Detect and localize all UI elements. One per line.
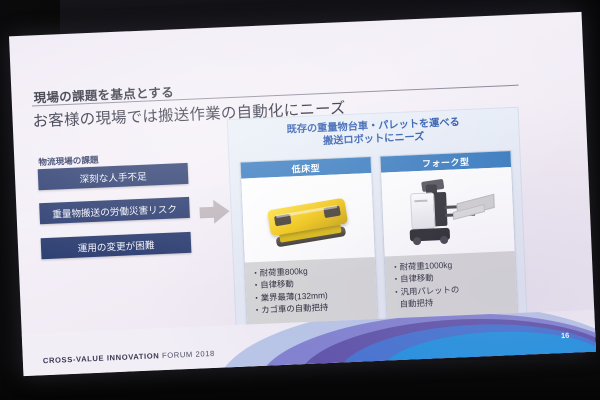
footer-brand-bold: CROSS-VALUE INNOVATION bbox=[43, 351, 160, 365]
footer-brand-light: FORUM 2018 bbox=[159, 349, 215, 360]
page-number: 16 bbox=[561, 331, 570, 340]
arrow-right-icon bbox=[199, 199, 230, 224]
product-card-fork-type: フォーク型 ・耐荷重1000kg ・自律移動 bbox=[379, 150, 518, 321]
product-spec-list: ・耐荷重1000kg ・自律移動 ・汎用パレットの 自動把持 bbox=[385, 251, 518, 320]
footer-brand: CROSS-VALUE INNOVATION FORUM 2018 bbox=[43, 349, 215, 365]
solution-heading: 既存の重量物台車・パレットを運べる 搬送ロボットにニーズ bbox=[228, 114, 519, 152]
product-spec-list: ・耐荷重800kg ・自律移動 ・業界最薄(132mm) ・カゴ車の自動把持 bbox=[245, 257, 378, 326]
projection-photo: 現場の課題を基点とする お客様の現場では搬送作業の自動化にニーズ 物流現場の課題… bbox=[0, 0, 600, 400]
presentation-slide: 現場の課題を基点とする お客様の現場では搬送作業の自動化にニーズ 物流現場の課題… bbox=[9, 12, 596, 376]
problem-box-3: 運用の変更が困難 bbox=[41, 232, 192, 259]
problem-box-2: 重量物搬送の労働災害リスク bbox=[39, 197, 190, 224]
low-floor-agv-image bbox=[241, 173, 374, 262]
solution-panel: 既存の重量物台車・パレットを運べる 搬送ロボットにニーズ 低床型 bbox=[227, 107, 528, 337]
product-card-low-floor: 低床型 ・耐荷重800kg ・自律移動 ・業界最薄(132mm) bbox=[240, 156, 379, 327]
fork-type-robot-image bbox=[381, 167, 514, 256]
